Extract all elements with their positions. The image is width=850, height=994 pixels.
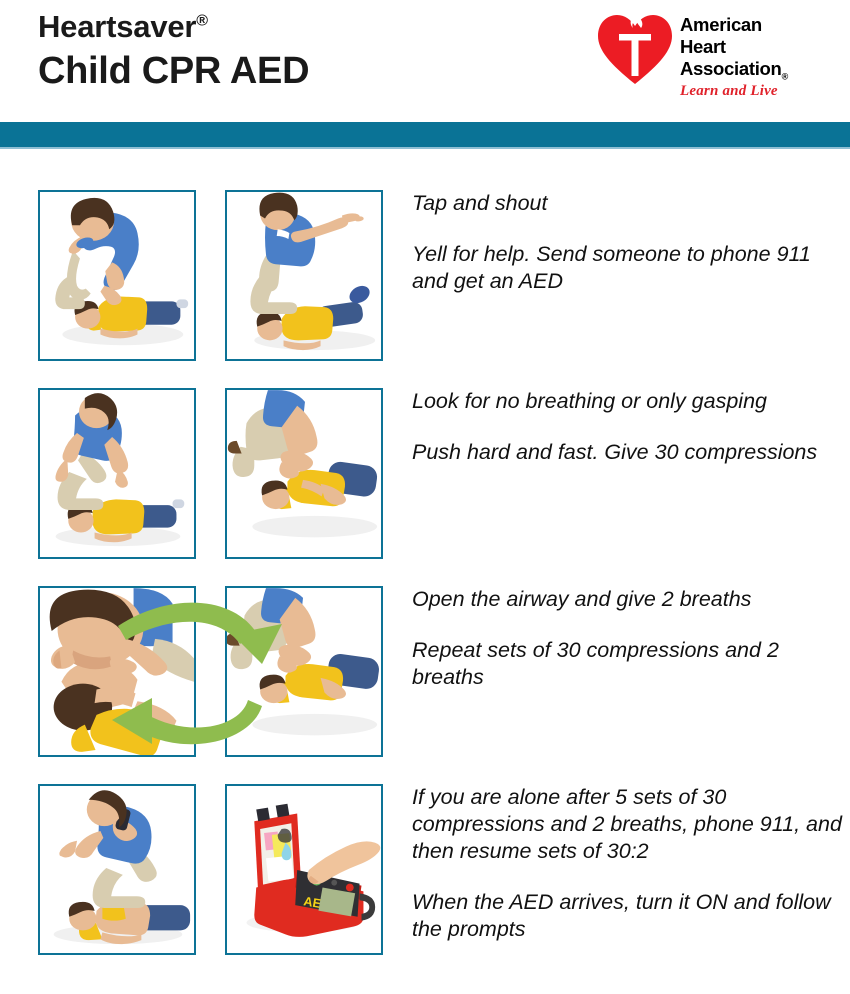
step-1-paragraph-1: Tap and shout — [412, 190, 850, 217]
step-row-3: Open the airway and give 2 breaths Repea… — [0, 586, 850, 759]
page-header: Heartsaver® Child CPR AED American Heart… — [0, 0, 850, 122]
american-heart-association-logo: American Heart Association® Learn and Li… — [596, 10, 826, 110]
page-title-line1: Heartsaver® — [38, 8, 309, 46]
step-3-paragraph-2: Repeat sets of 30 compressions and 2 bre… — [412, 637, 850, 691]
registered-mark-icon: ® — [782, 72, 788, 82]
step-row-1: Tap and shout Yell for help. Send someon… — [0, 190, 850, 363]
step-text-3: Open the airway and give 2 breaths Repea… — [412, 586, 850, 691]
illustration-panel-yell-for-help — [225, 190, 383, 361]
page-title-line1-text: Heartsaver — [38, 9, 196, 44]
step-4-paragraph-1: If you are alone after 5 sets of 30 comp… — [412, 784, 850, 865]
illustration-panel-compression-cycle — [225, 586, 383, 757]
heart-torch-icon — [596, 12, 674, 86]
logo-wordmark: American Heart Association® Learn and Li… — [680, 14, 830, 100]
illustration-panel-aed-device: AED — [225, 784, 383, 955]
teal-accent-bar — [0, 122, 850, 147]
logo-word-heart: Heart — [680, 36, 830, 58]
illustration-panel-rescue-breaths — [38, 586, 196, 757]
illustration-panel-compressions — [225, 388, 383, 559]
illustration-panel-phone-911 — [38, 784, 196, 955]
illustration-panel-tap-and-shout — [38, 190, 196, 361]
step-1-paragraph-2: Yell for help. Send someone to phone 911… — [412, 241, 850, 295]
step-text-4: If you are alone after 5 sets of 30 comp… — [412, 784, 850, 943]
step-row-4: AED If you are alone after 5 sets of 30 … — [0, 784, 850, 957]
page-title-line2: Child CPR AED — [38, 48, 309, 94]
teal-accent-bar-underline — [0, 147, 850, 149]
step-2-paragraph-2: Push hard and fast. Give 30 compressions — [412, 439, 850, 466]
step-row-2: Look for no breathing or only gasping Pu… — [0, 388, 850, 561]
logo-tagline: Learn and Live — [680, 83, 830, 100]
step-text-2: Look for no breathing or only gasping Pu… — [412, 388, 850, 466]
step-4-paragraph-2: When the AED arrives, turn it ON and fol… — [412, 889, 850, 943]
step-2-paragraph-1: Look for no breathing or only gasping — [412, 388, 850, 415]
logo-word-association: Association® — [680, 58, 830, 80]
illustration-panel-check-breathing — [38, 388, 196, 559]
step-text-1: Tap and shout Yell for help. Send someon… — [412, 190, 850, 295]
registered-mark-icon: ® — [196, 13, 208, 30]
title-block: Heartsaver® Child CPR AED — [38, 8, 309, 94]
logo-word-american: American — [680, 14, 830, 36]
step-3-paragraph-1: Open the airway and give 2 breaths — [412, 586, 850, 613]
